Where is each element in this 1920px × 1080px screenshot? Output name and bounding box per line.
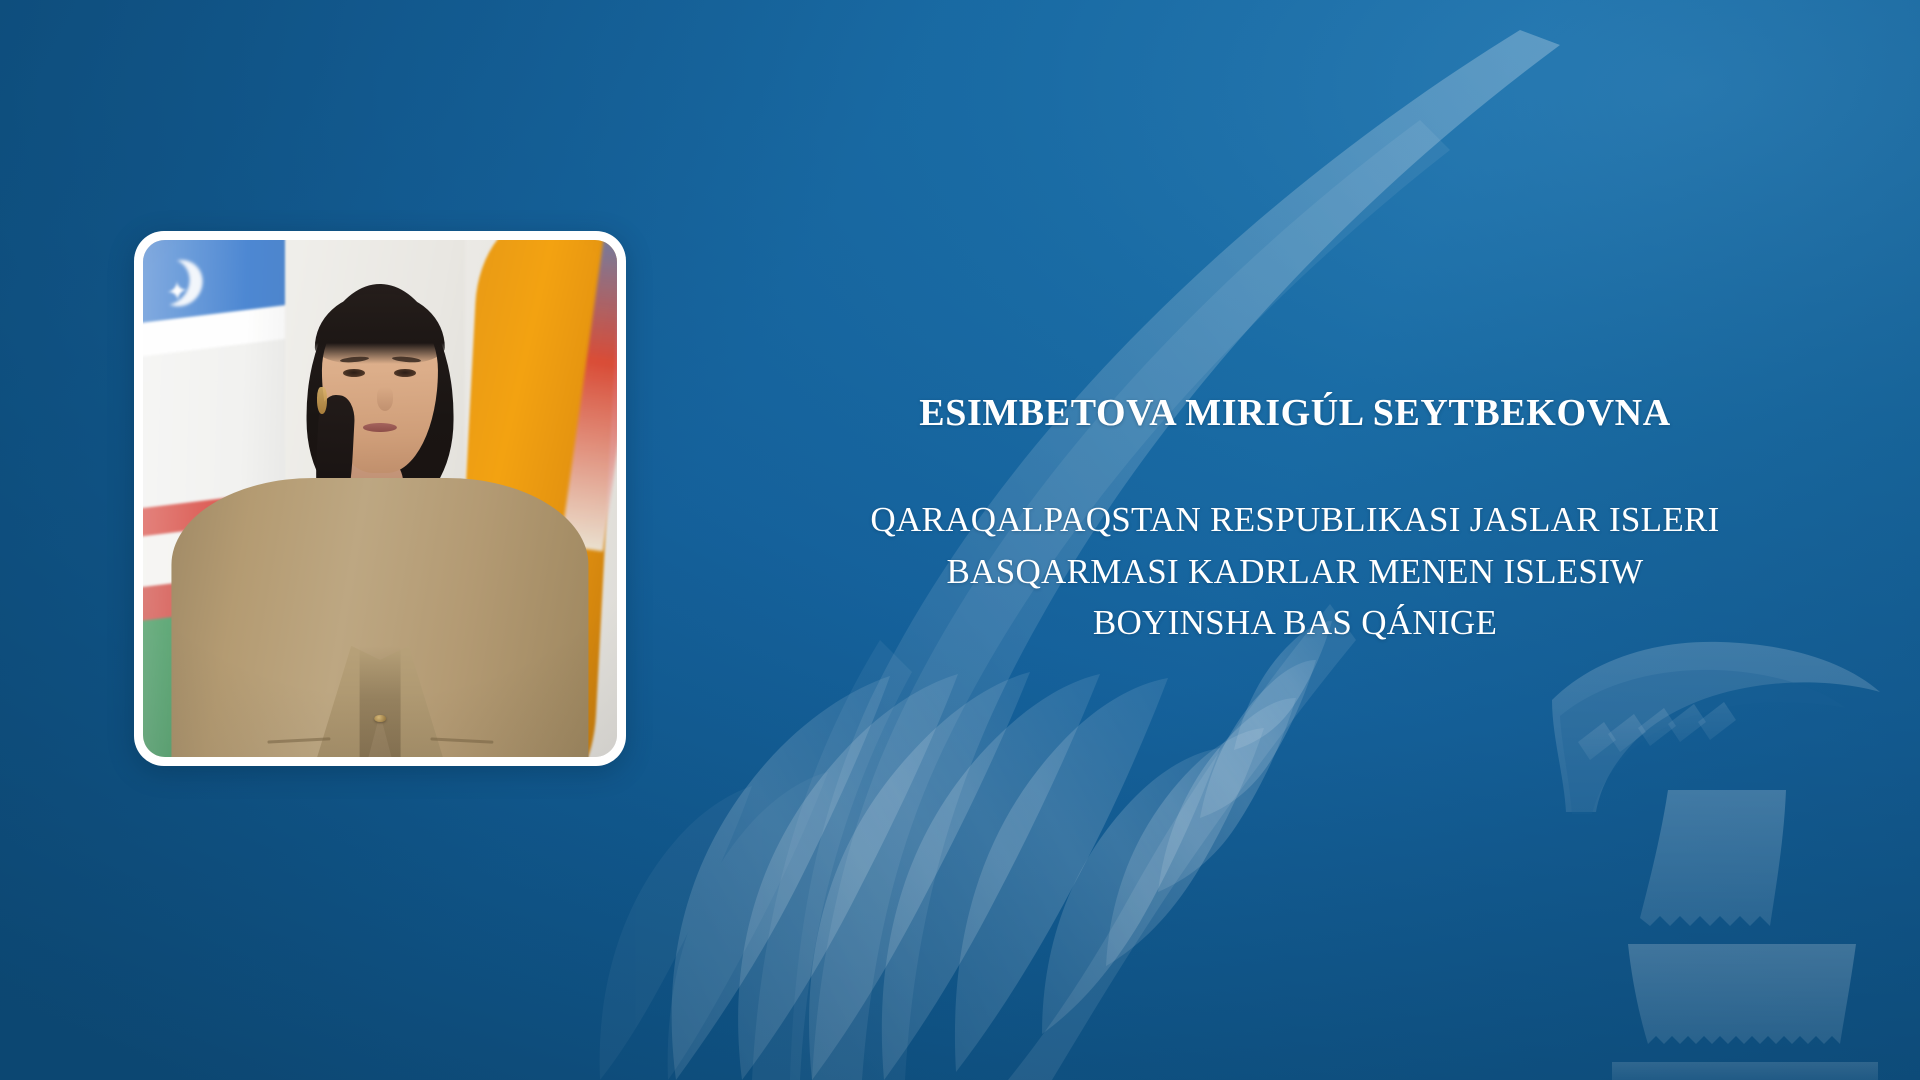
slide-canvas: ✦ bbox=[0, 0, 1920, 1080]
photo-vignette bbox=[143, 240, 617, 757]
position-title-line-3: BOYINSHA BAS QÁNIGE bbox=[760, 597, 1830, 648]
position-title-line-1: QARAQALPAQSTAN RESPUBLIKASI JASLAR ISLER… bbox=[760, 494, 1830, 545]
profile-text-block: ESIMBETOVA MIRIGÚL SEYTBEKOVNA QARAQALPA… bbox=[760, 390, 1830, 649]
portrait-photo-frame: ✦ bbox=[134, 231, 626, 766]
person-name: ESIMBETOVA MIRIGÚL SEYTBEKOVNA bbox=[760, 390, 1830, 436]
position-title: QARAQALPAQSTAN RESPUBLIKASI JASLAR ISLER… bbox=[760, 436, 1830, 648]
portrait-photo: ✦ bbox=[143, 240, 617, 757]
position-title-line-2: BASQARMASI KADRLAR MENEN ISLESIW bbox=[760, 546, 1830, 597]
